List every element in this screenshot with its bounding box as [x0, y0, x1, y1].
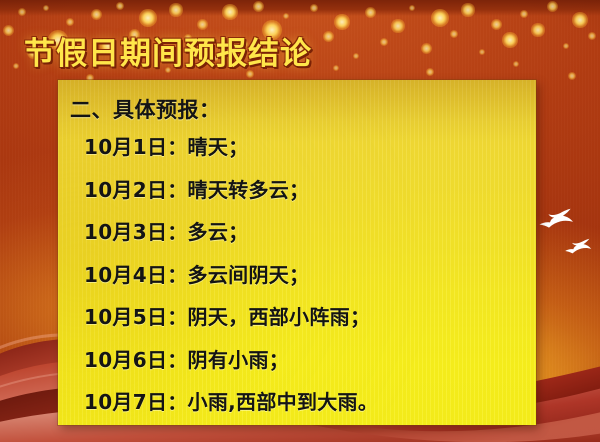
forecast-line: 10月3日：多云；: [84, 211, 536, 254]
forecast-line: 10月6日：阴有小雨；: [84, 339, 536, 382]
forecast-line: 10月5日：阴天，西部小阵雨；: [84, 296, 536, 339]
flying-bird-icon: [564, 238, 592, 260]
slide: 节假日期间预报结论 二、具体预报： 10月1日：晴天； 10月2日：晴天转多云；…: [0, 0, 600, 442]
flying-bird-icon: [538, 208, 574, 236]
page-title: 节假日期间预报结论: [24, 28, 312, 73]
forecast-line: 10月2日：晴天转多云；: [84, 169, 536, 212]
forecast-line: 10月7日：小雨,西部中到大雨。: [84, 381, 536, 424]
section-heading: 二、具体预报：: [70, 94, 536, 124]
forecast-content: 二、具体预报： 10月1日：晴天； 10月2日：晴天转多云； 10月3日：多云；…: [58, 80, 536, 424]
forecast-line: 10月1日：晴天；: [84, 126, 536, 169]
forecast-panel: 二、具体预报： 10月1日：晴天； 10月2日：晴天转多云； 10月3日：多云；…: [58, 80, 536, 425]
forecast-line: 10月4日：多云间阴天；: [84, 254, 536, 297]
